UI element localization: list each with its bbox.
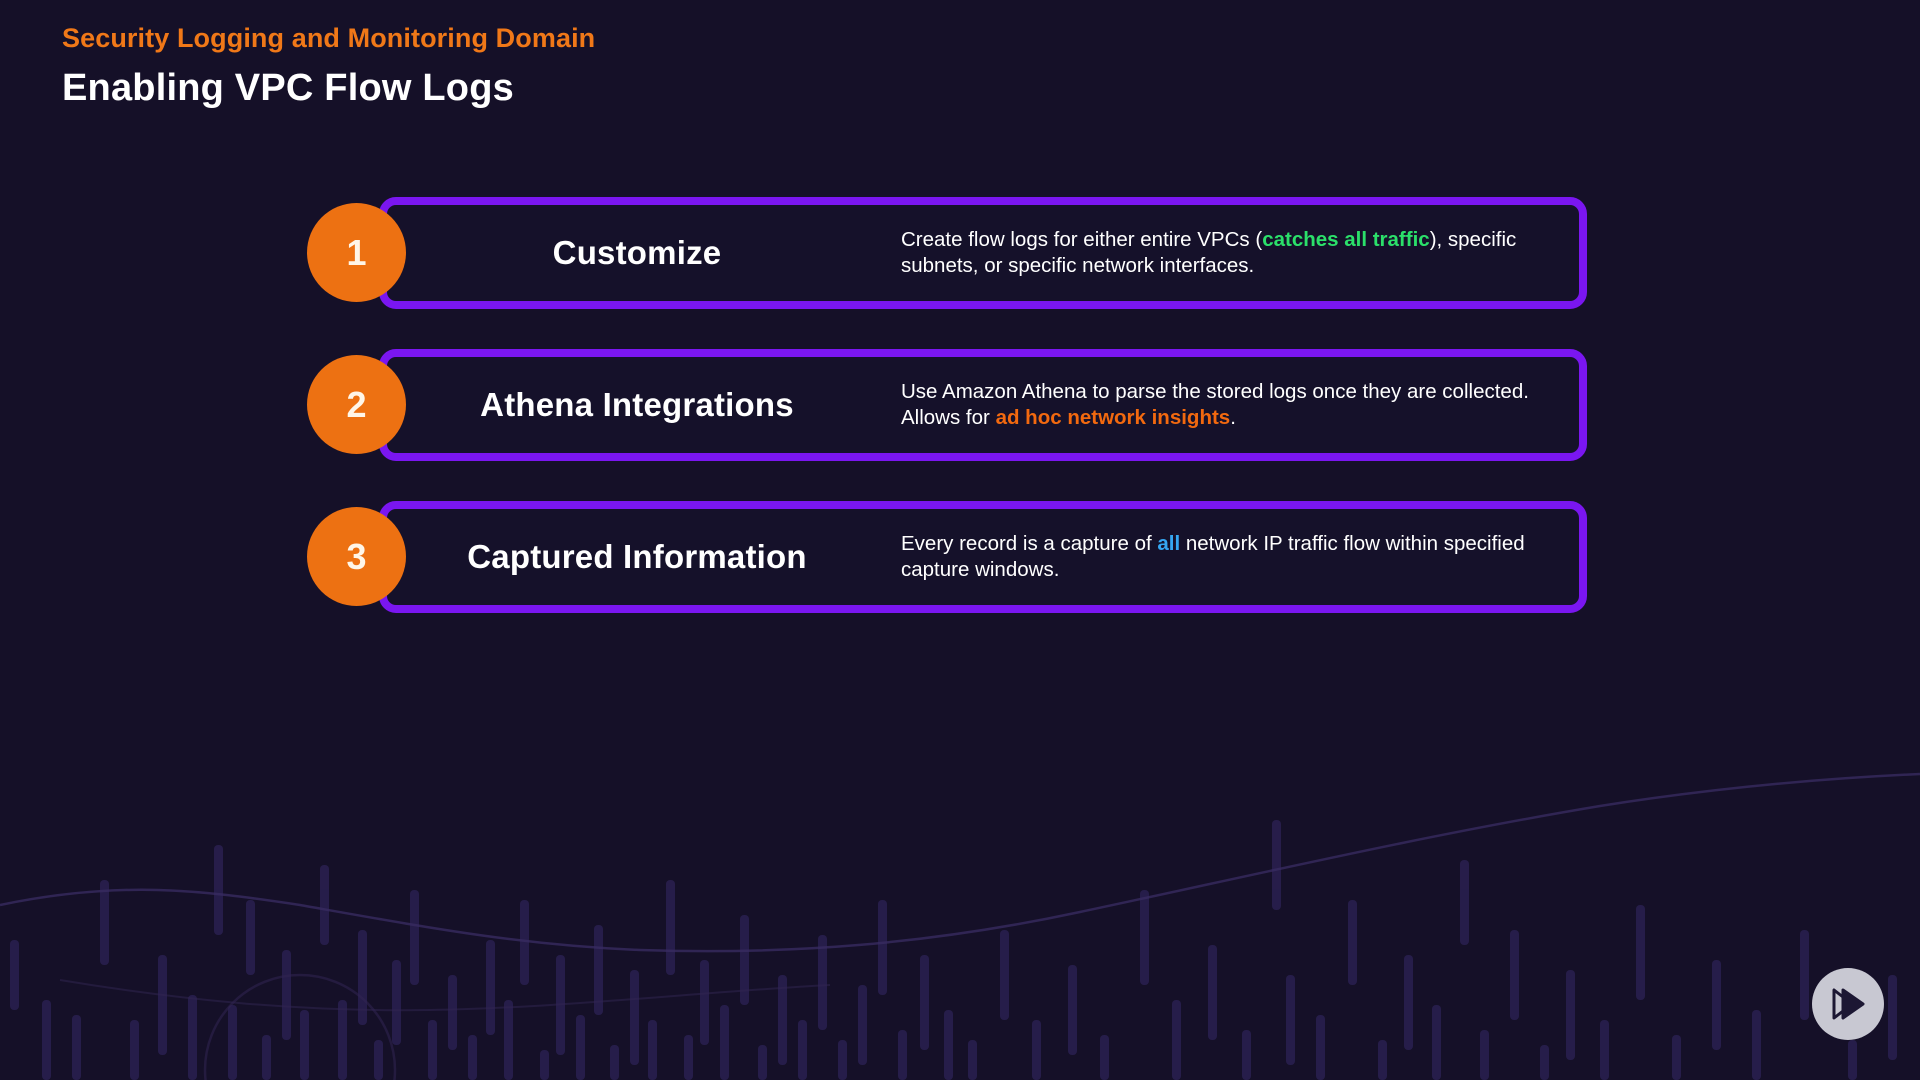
header: Security Logging and Monitoring Domain E… [62,22,595,112]
step-card-2[interactable]: Athena Integrations Use Amazon Athena to… [379,349,1587,461]
step-title-2: Athena Integrations [387,386,901,424]
step-card-3[interactable]: Captured Information Every record is a c… [379,501,1587,613]
step-card-1[interactable]: Customize Create flow logs for either en… [379,197,1587,309]
step-row-3: Captured Information Every record is a c… [307,501,1587,613]
step-row-2: Athena Integrations Use Amazon Athena to… [307,349,1587,461]
domain-eyebrow: Security Logging and Monitoring Domain [62,22,595,56]
step-body-1: Create flow logs for either entire VPCs … [901,227,1579,280]
step-row-1: Customize Create flow logs for either en… [307,197,1587,309]
step-number-badge-3: 3 [307,507,406,606]
step-body-2: Use Amazon Athena to parse the stored lo… [901,379,1579,432]
step-number-badge-2: 2 [307,355,406,454]
slide-root: Security Logging and Monitoring Domain E… [0,0,1920,1080]
step-title-3: Captured Information [387,538,901,576]
page-title: Enabling VPC Flow Logs [62,65,595,113]
double-play-arrow-icon [1827,983,1869,1025]
step-body-3: Every record is a capture of all network… [901,531,1579,584]
brand-logo-badge[interactable] [1812,968,1884,1040]
step-title-1: Customize [387,234,901,272]
step-number-badge-1: 1 [307,203,406,302]
